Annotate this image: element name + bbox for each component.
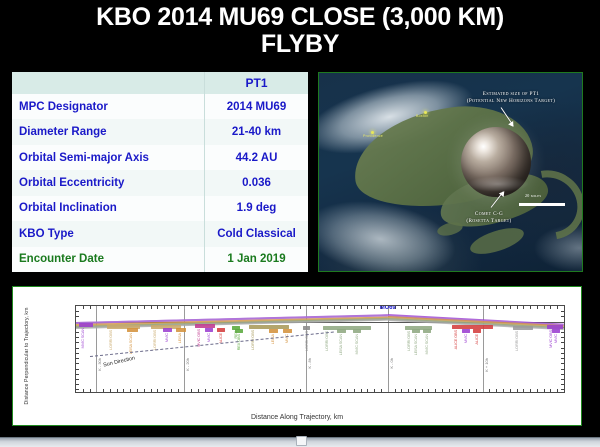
chart-tick-bottom bbox=[503, 389, 504, 392]
chart-tick-bottom bbox=[313, 389, 314, 392]
chart-tick-top bbox=[123, 306, 124, 309]
chart-tick-bottom bbox=[178, 389, 179, 392]
chart-tick-bottom bbox=[523, 389, 524, 392]
chart-tick-bottom bbox=[510, 389, 511, 392]
chart-tick-top bbox=[117, 306, 118, 309]
chart-tick-bottom bbox=[428, 389, 429, 392]
annotation-comet: Comet C-G (Rosetta Target) bbox=[439, 211, 539, 224]
chart-vertical-marker bbox=[96, 306, 97, 392]
chart-tick-top bbox=[523, 306, 524, 309]
chart-tick-left bbox=[76, 348, 79, 349]
chart-tick-left bbox=[76, 311, 79, 312]
chart-tick-top bbox=[137, 306, 138, 309]
chart-tick-bottom bbox=[530, 389, 531, 392]
chart-tick-left bbox=[76, 332, 79, 333]
chart-tick-bottom bbox=[151, 389, 152, 392]
trajectory-observation-chart: K - 30hK - 20hK - 8hK - 0hK + 10hMVIC SC… bbox=[12, 286, 582, 426]
chart-tick-bottom bbox=[144, 389, 145, 392]
scale-bar-label: 20 miles bbox=[525, 193, 541, 198]
chart-tick-top bbox=[90, 306, 91, 309]
chart-tick-left bbox=[76, 384, 79, 385]
chart-plot-area: K - 30hK - 20hK - 8hK - 0hK + 10hMVIC SC… bbox=[75, 305, 565, 393]
chart-tick-bottom bbox=[456, 389, 457, 392]
chart-tick-top bbox=[456, 306, 457, 309]
chart-observation-block bbox=[473, 329, 481, 333]
chart-observation-label: LORRI OBS bbox=[324, 331, 329, 351]
chart-tick-top bbox=[164, 306, 165, 309]
table-header-pt1: PT1 bbox=[205, 72, 309, 94]
chart-observation-label: LEISA bbox=[177, 333, 182, 343]
chart-tick-left bbox=[76, 358, 79, 359]
chart-sun-direction-line bbox=[89, 331, 333, 356]
chart-observation-label: LEISA SCAN bbox=[338, 334, 343, 355]
chart-tick-top bbox=[354, 306, 355, 309]
chart-tick-top bbox=[273, 306, 274, 309]
chart-tick-bottom bbox=[550, 389, 551, 392]
chart-tick-bottom bbox=[225, 389, 226, 392]
chart-tick-top bbox=[212, 306, 213, 309]
table-header-blank bbox=[12, 72, 205, 94]
chart-tick-top bbox=[544, 306, 545, 309]
chart-tick-bottom bbox=[123, 389, 124, 392]
title-line-2: FLYBY bbox=[0, 31, 600, 58]
table-row: Orbital Inclination1.9 deg bbox=[12, 196, 308, 221]
chart-observation-label: MVIC SCAN bbox=[424, 334, 429, 354]
annotation-pt1-line2: (Potential New Horizons Target) bbox=[447, 98, 575, 105]
chart-tick-bottom bbox=[286, 389, 287, 392]
chart-tick-bottom bbox=[381, 389, 382, 392]
chart-tick-left bbox=[76, 353, 79, 354]
chart-tick-top bbox=[422, 306, 423, 309]
chart-tick-top bbox=[564, 306, 565, 309]
chart-vertical-marker-label: K - 20h bbox=[185, 358, 190, 371]
chart-tick-right bbox=[561, 342, 564, 343]
table-row: Diameter Range21-40 km bbox=[12, 119, 308, 144]
annotation-comet-line2: (Rosetta Target) bbox=[439, 218, 539, 225]
chart-vertical-marker-label: K - 8h bbox=[307, 358, 312, 369]
chart-observation-label: ALICE OBS bbox=[453, 330, 458, 349]
chart-observation-block bbox=[513, 326, 533, 330]
chart-tick-bottom bbox=[367, 389, 368, 392]
table-cell-label: Orbital Inclination bbox=[12, 196, 205, 221]
chart-tick-right bbox=[561, 348, 564, 349]
chart-tick-top bbox=[503, 306, 504, 309]
chart-tick-bottom bbox=[408, 389, 409, 392]
chart-tick-top bbox=[157, 306, 158, 309]
chart-tick-top bbox=[435, 306, 436, 309]
chart-tick-right bbox=[561, 311, 564, 312]
table-cell-value: Cold Classical bbox=[205, 221, 309, 246]
chart-tick-top bbox=[239, 306, 240, 309]
chart-tick-bottom bbox=[273, 389, 274, 392]
chart-tick-top bbox=[320, 306, 321, 309]
chart-tick-top bbox=[476, 306, 477, 309]
chart-tick-right bbox=[561, 374, 564, 375]
table-cell-value: 21-40 km bbox=[205, 119, 309, 144]
chart-tick-bottom bbox=[293, 389, 294, 392]
chart-tick-bottom bbox=[347, 389, 348, 392]
chart-tick-top bbox=[191, 306, 192, 309]
chart-tick-top bbox=[110, 306, 111, 309]
chart-tick-top bbox=[83, 306, 84, 309]
chart-observation-label: LORRI OBS bbox=[406, 331, 411, 351]
chart-tick-bottom bbox=[374, 389, 375, 392]
chart-tick-bottom bbox=[442, 389, 443, 392]
chart-tick-top bbox=[300, 306, 301, 309]
chart-tick-top bbox=[517, 306, 518, 309]
chart-tick-top bbox=[218, 306, 219, 309]
chart-tick-top bbox=[245, 306, 246, 309]
chart-tick-top bbox=[266, 306, 267, 309]
chart-tick-right bbox=[561, 316, 564, 317]
chart-y-axis-label: Distance Perpendicular to Trajectory, km bbox=[24, 296, 30, 416]
chart-tick-bottom bbox=[218, 389, 219, 392]
city-label: Boston bbox=[416, 114, 428, 118]
chart-tick-top bbox=[401, 306, 402, 309]
chart-tick-bottom bbox=[300, 389, 301, 392]
chart-tick-right bbox=[561, 384, 564, 385]
chart-observation-label: LORRI OBS bbox=[152, 330, 157, 350]
chart-observation-block bbox=[412, 329, 421, 333]
table-cell-value: 1 Jan 2019 bbox=[205, 247, 309, 272]
chart-tick-bottom bbox=[422, 389, 423, 392]
table-cell-label: Diameter Range bbox=[12, 119, 205, 144]
chart-tick-left bbox=[76, 342, 79, 343]
chart-tick-bottom bbox=[489, 389, 490, 392]
chart-tick-top bbox=[489, 306, 490, 309]
chart-tick-top bbox=[449, 306, 450, 309]
scale-bar bbox=[519, 203, 565, 206]
chart-tick-right bbox=[561, 332, 564, 333]
chart-observation-label: MVIC SCAN bbox=[80, 328, 85, 348]
chart-tick-top bbox=[286, 306, 287, 309]
pt1-sphere-graphic bbox=[461, 127, 531, 197]
scale-comparison-photo: BostonProvidence Estimated size of PT1 (… bbox=[318, 72, 583, 272]
chart-tick-right bbox=[561, 337, 564, 338]
chart-observation-block bbox=[303, 326, 310, 330]
chart-tick-top bbox=[415, 306, 416, 309]
chart-tick-top bbox=[103, 306, 104, 309]
chart-tick-right bbox=[561, 389, 564, 390]
chart-tick-bottom bbox=[564, 389, 565, 392]
chart-tick-bottom bbox=[212, 389, 213, 392]
chart-tick-bottom bbox=[557, 389, 558, 392]
chart-tick-bottom bbox=[245, 389, 246, 392]
chart-tick-top bbox=[374, 306, 375, 309]
chart-tick-bottom bbox=[476, 389, 477, 392]
table-cell-label: Orbital Semi-major Axis bbox=[12, 145, 205, 170]
chart-tick-left bbox=[76, 316, 79, 317]
chart-tick-right bbox=[561, 353, 564, 354]
chart-tick-top bbox=[252, 306, 253, 309]
table-cell-value: 0.036 bbox=[205, 170, 309, 195]
table-header-row: PT1 bbox=[12, 72, 308, 94]
chart-observation-block bbox=[353, 329, 362, 333]
chart-tick-top bbox=[178, 306, 179, 309]
chart-vertical-marker-label: K - 0h bbox=[389, 358, 394, 369]
chart-observation-block bbox=[163, 328, 172, 332]
chart-tick-bottom bbox=[252, 389, 253, 392]
table-row: Encounter Date1 Jan 2019 bbox=[12, 247, 308, 272]
chart-tick-bottom bbox=[395, 389, 396, 392]
window-bottom-handle[interactable] bbox=[296, 436, 307, 446]
chart-sun-direction-label: Sun Direction bbox=[103, 356, 136, 369]
chart-tick-bottom bbox=[239, 389, 240, 392]
chart-tick-bottom bbox=[259, 389, 260, 392]
chart-observation-label: MVIC bbox=[206, 333, 211, 342]
chart-tick-top bbox=[130, 306, 131, 309]
chart-tick-right bbox=[561, 358, 564, 359]
chart-observation-label: MVIC bbox=[553, 334, 558, 343]
chart-tick-top bbox=[442, 306, 443, 309]
table-row: KBO TypeCold Classical bbox=[12, 221, 308, 246]
table-row: Orbital Eccentricity0.036 bbox=[12, 170, 308, 195]
chart-tick-top bbox=[428, 306, 429, 309]
chart-tick-bottom bbox=[354, 389, 355, 392]
chart-tick-top bbox=[367, 306, 368, 309]
chart-vertical-marker-label: K - 30h bbox=[97, 358, 102, 371]
chart-tick-top bbox=[537, 306, 538, 309]
chart-vertical-marker-label: K + 10h bbox=[484, 358, 489, 372]
chart-tick-top bbox=[151, 306, 152, 309]
page-title: KBO 2014 MU69 CLOSE (3,000 KM) FLYBY bbox=[0, 4, 600, 58]
kbo-properties-table: PT1MPC Designator2014 MU69Diameter Range… bbox=[12, 72, 308, 272]
chart-observation-label: LEISA SCAN bbox=[413, 334, 418, 355]
chart-observation-label: MVIC SCAN bbox=[354, 334, 359, 354]
chart-tick-bottom bbox=[103, 389, 104, 392]
annotation-comet-line1: Comet C-G bbox=[439, 211, 539, 218]
table-row: MPC Designator2014 MU69 bbox=[12, 94, 308, 119]
table-cell-value: 44.2 AU bbox=[205, 145, 309, 170]
chart-tick-top bbox=[144, 306, 145, 309]
chart-target-label: MU69 bbox=[380, 305, 396, 311]
chart-tick-bottom bbox=[90, 389, 91, 392]
chart-tick-left bbox=[76, 363, 79, 364]
chart-tick-bottom bbox=[327, 389, 328, 392]
chart-tick-top bbox=[259, 306, 260, 309]
chart-tick-top bbox=[340, 306, 341, 309]
chart-observation-block bbox=[205, 328, 213, 332]
chart-tick-bottom bbox=[462, 389, 463, 392]
chart-tick-top bbox=[232, 306, 233, 309]
chart-tick-bottom bbox=[361, 389, 362, 392]
chart-observation-block bbox=[462, 329, 470, 333]
chart-tick-bottom bbox=[544, 389, 545, 392]
chart-observation-label: MVIC bbox=[463, 334, 468, 343]
chart-tick-top bbox=[334, 306, 335, 309]
chart-tick-left bbox=[76, 379, 79, 380]
chart-observation-label: LORRI OBS bbox=[108, 330, 113, 350]
chart-tick-bottom bbox=[191, 389, 192, 392]
chart-tick-bottom bbox=[171, 389, 172, 392]
chart-tick-bottom bbox=[205, 389, 206, 392]
chart-tick-top bbox=[408, 306, 409, 309]
chart-tick-bottom bbox=[110, 389, 111, 392]
chart-observation-block bbox=[423, 329, 431, 333]
chart-tick-bottom bbox=[117, 389, 118, 392]
chart-tick-top bbox=[205, 306, 206, 309]
chart-observation-block bbox=[323, 326, 370, 330]
table-cell-label: KBO Type bbox=[12, 221, 205, 246]
chart-tick-bottom bbox=[469, 389, 470, 392]
chart-tick-bottom bbox=[130, 389, 131, 392]
chart-tick-bottom bbox=[320, 389, 321, 392]
chart-tick-left bbox=[76, 374, 79, 375]
chart-observation-block bbox=[269, 329, 278, 333]
chart-observation-block bbox=[127, 328, 139, 332]
chart-tick-bottom bbox=[279, 389, 280, 392]
chart-observation-block bbox=[235, 329, 243, 333]
slide: KBO 2014 MU69 CLOSE (3,000 KM) FLYBY PT1… bbox=[0, 0, 600, 447]
table-row: Orbital Semi-major Axis44.2 AU bbox=[12, 145, 308, 170]
chart-observation-label: LORRI OBS bbox=[514, 331, 519, 351]
table-cell-label: Encounter Date bbox=[12, 247, 205, 272]
chart-observation-label: REX OBS bbox=[236, 334, 241, 350]
chart-tick-top bbox=[327, 306, 328, 309]
chart-tick-bottom bbox=[415, 389, 416, 392]
chart-tick-bottom bbox=[157, 389, 158, 392]
chart-tick-bottom bbox=[232, 389, 233, 392]
chart-tick-bottom bbox=[496, 389, 497, 392]
chart-tick-top bbox=[510, 306, 511, 309]
chart-tick-top bbox=[530, 306, 531, 309]
title-line-1: KBO 2014 MU69 CLOSE (3,000 KM) bbox=[0, 4, 600, 31]
chart-observation-block bbox=[176, 328, 185, 332]
chart-tick-right bbox=[561, 369, 564, 370]
city-label: Providence bbox=[363, 134, 383, 138]
chart-observation-label: MVIC bbox=[164, 333, 169, 342]
chart-tick-right bbox=[561, 379, 564, 380]
annotation-pt1-line1: Estimated size of PT1 bbox=[447, 91, 575, 98]
chart-tick-top bbox=[550, 306, 551, 309]
chart-tick-top bbox=[293, 306, 294, 309]
chart-tick-top bbox=[279, 306, 280, 309]
chart-tick-top bbox=[557, 306, 558, 309]
chart-tick-top bbox=[198, 306, 199, 309]
chart-tick-top bbox=[496, 306, 497, 309]
chart-tick-bottom bbox=[537, 389, 538, 392]
annotation-pt1: Estimated size of PT1 (Potential New Hor… bbox=[447, 91, 575, 104]
chart-tick-right bbox=[561, 363, 564, 364]
chart-tick-bottom bbox=[449, 389, 450, 392]
chart-tick-bottom bbox=[137, 389, 138, 392]
chart-tick-top bbox=[462, 306, 463, 309]
chart-observation-block bbox=[283, 329, 292, 333]
chart-tick-top bbox=[361, 306, 362, 309]
chart-tick-top bbox=[171, 306, 172, 309]
chart-x-axis-label: Distance Along Trajectory, km bbox=[13, 414, 581, 421]
chart-observation-label: ALICE bbox=[474, 334, 479, 345]
table-cell-value: 1.9 deg bbox=[205, 196, 309, 221]
chart-tick-left bbox=[76, 389, 79, 390]
chart-tick-bottom bbox=[401, 389, 402, 392]
chart-observation-label: LEISA bbox=[270, 334, 275, 344]
chart-tick-bottom bbox=[435, 389, 436, 392]
chart-tick-bottom bbox=[517, 389, 518, 392]
table-cell-label: MPC Designator bbox=[12, 94, 205, 119]
chart-tick-bottom bbox=[164, 389, 165, 392]
chart-tick-top bbox=[225, 306, 226, 309]
chart-tick-bottom bbox=[198, 389, 199, 392]
chart-tick-top bbox=[469, 306, 470, 309]
chart-observation-block bbox=[552, 329, 560, 333]
table-cell-value: 2014 MU69 bbox=[205, 94, 309, 119]
chart-observation-block bbox=[79, 323, 93, 327]
chart-tick-top bbox=[347, 306, 348, 309]
chart-observation-block bbox=[337, 329, 346, 333]
table-cell-label: Orbital Eccentricity bbox=[12, 170, 205, 195]
chart-tick-bottom bbox=[83, 389, 84, 392]
chart-tick-left bbox=[76, 369, 79, 370]
chart-tick-bottom bbox=[340, 389, 341, 392]
chart-tick-top bbox=[313, 306, 314, 309]
chart-tick-bottom bbox=[266, 389, 267, 392]
chart-tick-bottom bbox=[334, 389, 335, 392]
chart-tick-left bbox=[76, 337, 79, 338]
